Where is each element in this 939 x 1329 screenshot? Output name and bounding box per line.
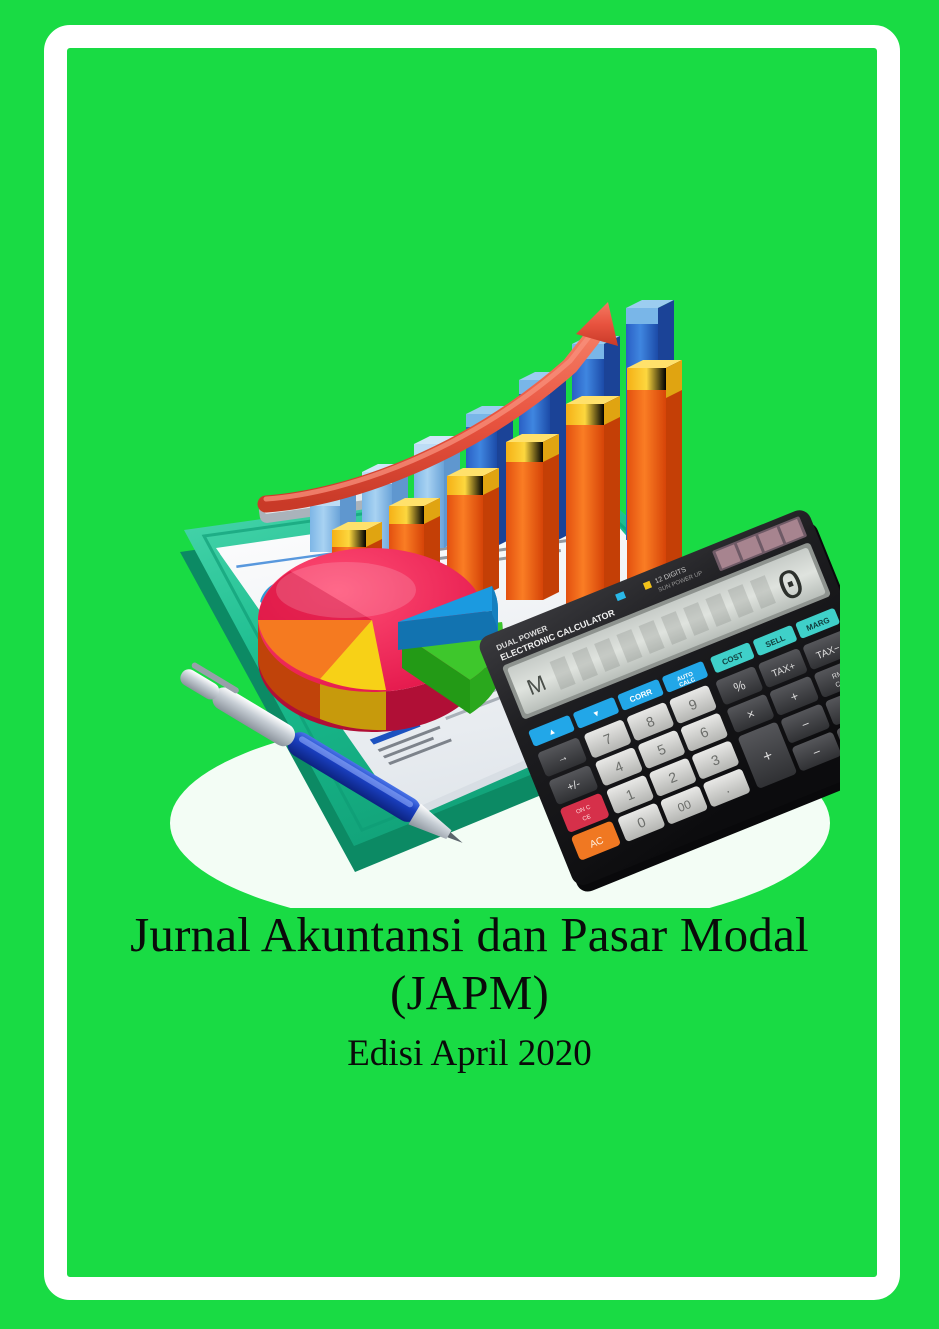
financial-analysis-illustration: DUAL POWER ELECTRONIC CALCULATOR 12 DIGI… xyxy=(140,268,840,908)
journal-title-line-2: (JAPM) xyxy=(60,964,879,1022)
journal-cover-page: DUAL POWER ELECTRONIC CALCULATOR 12 DIGI… xyxy=(0,0,939,1329)
journal-edition: Edisi April 2020 xyxy=(60,1031,879,1077)
bar-orange-5 xyxy=(566,396,620,604)
pie-gloss xyxy=(276,562,416,618)
bar-orange-4 xyxy=(506,434,559,600)
cover-title-block: Jurnal Akuntansi dan Pasar Modal (JAPM) … xyxy=(60,906,879,1077)
journal-title-line-1: Jurnal Akuntansi dan Pasar Modal xyxy=(60,906,879,964)
cover-illustration: DUAL POWER ELECTRONIC CALCULATOR 12 DIGI… xyxy=(140,268,840,908)
